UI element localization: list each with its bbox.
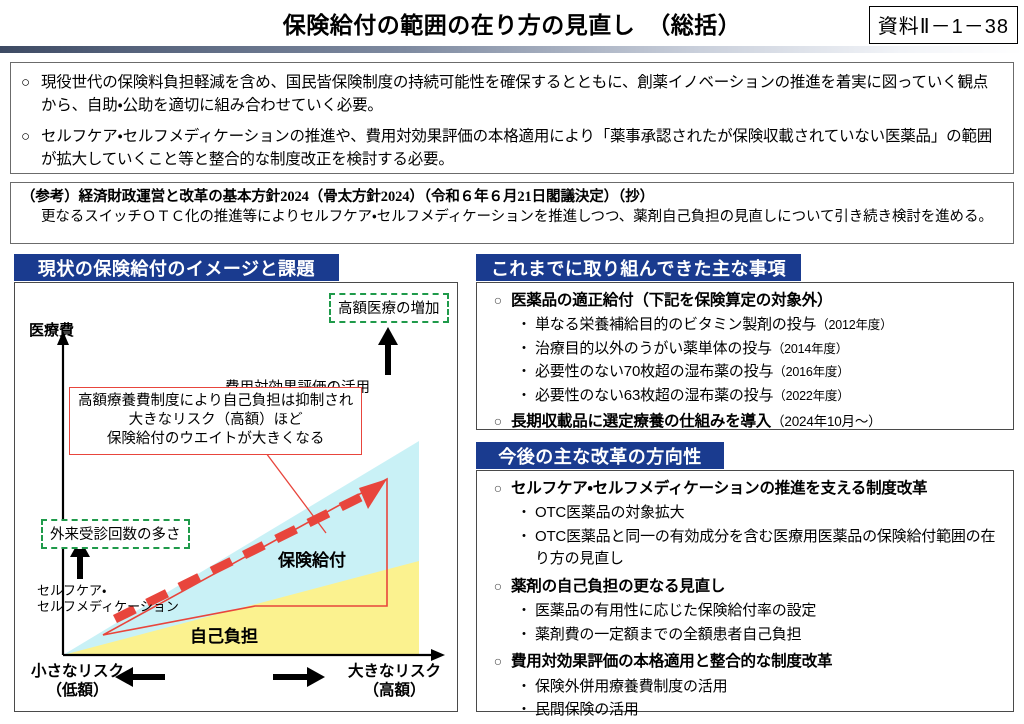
list-sub-item: ・ 治療目的以外のうがい薬単体の投与（2014年度） [485,338,1005,361]
list-item-head: ○ 長期収載品に選定療養の仕組みを導入（2024年10月～） [485,411,1005,433]
list-sub-item-text: 必要性のない70枚超の湿布薬の投与（2016年度） [535,361,1005,384]
summary-item-text: 現役世代の保険料負担軽減を含め、国民皆保険制度の持続可能性を確保するとともに、創… [41,72,1003,118]
list-sub-item: ・ 薬剤費の一定額までの全額患者自己負担 [485,624,1005,647]
dot-bullet-icon: ・ [517,502,535,524]
history-panel: ○ 医薬品の適正給付（下記を保険算定の対象外） ・ 単なる栄養補給目的のビタミン… [476,282,1014,430]
list-item-head: ○ セルフケア・セルフメディケーションの推進を支える制度改革 [485,478,1005,500]
x-axis-label-small-risk: 小さなリスク （低額） [31,663,124,700]
list-sub-item: ・ 保険外併用療養費制度の活用 [485,676,1005,699]
list-sub-item-text: 民間保険の活用 [535,699,1005,722]
big-risk-arrow-icon [273,667,325,687]
chart-panel: 医療費 保険給付 自己負担 費用対効果評価の活用 セルフケア・ セルフメディケー… [14,282,458,712]
self-pay-label: 自己負担 [190,622,258,647]
slide-page: 保険給付の範囲の在り方の見直し （総括） 資料Ⅱ－1－38 ○ 現役世代の保険料… [0,0,1024,724]
list-sub-item: ・ OTC医薬品と同一の有効成分を含む医療用医薬品の保険給付範囲の在り方の見直し [485,526,1005,571]
list-sub-item-text: 薬剤費の一定額までの全額患者自己負担 [535,624,1005,647]
list-item-head-text: 薬剤の自己負担の更なる見直し [511,576,1005,598]
future-list: ○ セルフケア・セルフメディケーションの推進を支える制度改革 ・ OTC医薬品の… [477,471,1013,722]
dot-bullet-icon: ・ [517,526,535,548]
dot-bullet-icon: ・ [517,385,535,407]
list-item-head-text: 費用対効果評価の本格適用と整合的な制度改革 [511,651,1005,673]
list-item-head-text: 医薬品の適正給付（下記を保険算定の対象外） [511,290,1005,312]
outpatient-visits-callout: 外来受診回数の多さ [41,519,190,549]
insurance-benefit-label: 保険給付 [278,546,346,571]
list-sub-item-text: 治療目的以外のうがい薬単体の投与（2014年度） [535,338,1005,361]
dot-bullet-icon: ・ [517,699,535,721]
dot-bullet-icon: ・ [517,361,535,383]
summary-item-text: セルフケア・セルフメディケーションの推進や、費用対効果評価の本格適用により「薬事… [41,126,1003,172]
dot-bullet-icon: ・ [517,600,535,622]
list-sub-item: ・ OTC医薬品の対象拡大 [485,502,1005,525]
list-sub-item-text: OTC医薬品と同一の有効成分を含む医療用医薬品の保険給付範囲の在り方の見直し [535,526,1005,571]
circle-bullet-icon: ○ [485,411,511,432]
list-sub-item: ・ 必要性のない63枚超の湿布薬の投与（2022年度） [485,385,1005,408]
circle-bullet-icon: ○ [485,651,511,672]
reference-box: （参考）経済財政運営と改革の基本方針2024（骨太方針2024）（令和６年６月2… [10,182,1014,244]
circle-bullet-icon: ○ [21,126,41,149]
insurance-coverage-diagram [15,283,459,713]
dot-bullet-icon: ・ [517,338,535,360]
list-sub-item: ・ 単なる栄養補給目的のビタミン製剤の投与（2012年度） [485,314,1005,337]
list-sub-item-text: 単なる栄養補給目的のビタミン製剤の投与（2012年度） [535,314,1005,337]
reference-title: （参考）経済財政運営と改革の基本方針2024（骨太方針2024）（令和６年６月2… [21,188,1003,208]
future-panel: ○ セルフケア・セルフメディケーションの推進を支える制度改革 ・ OTC医薬品の… [476,470,1014,712]
list-sub-item-text: OTC医薬品の対象拡大 [535,502,1005,525]
section-header-future: 今後の主な改革の方向性 [476,442,724,469]
header-divider [0,46,1024,53]
list-sub-item-text: 必要性のない63枚超の湿布薬の投与（2022年度） [535,385,1005,408]
list-item-head-text: 長期収載品に選定療養の仕組みを導入（2024年10月～） [511,411,1005,433]
selfcare-annotation: セルフケア・ セルフメディケーション [37,583,179,616]
summary-box: ○ 現役世代の保険料負担軽減を含め、国民皆保険制度の持続可能性を確保するとともに… [10,62,1014,174]
section-header-chart: 現状の保険給付のイメージと課題 [14,254,339,281]
list-item-head-text: セルフケア・セルフメディケーションの推進を支える制度改革 [511,478,1005,500]
circle-bullet-icon: ○ [21,72,41,95]
list-sub-item-text: 医薬品の有用性に応じた保険給付率の設定 [535,600,1005,623]
reference-body: 更なるスイッチＯＴＣ化の推進等によりセルフケア・セルフメディケーションを推進しつ… [21,208,1003,228]
list-item-head: ○ 薬剤の自己負担の更なる見直し [485,576,1005,598]
dot-bullet-icon: ・ [517,314,535,336]
list-sub-item: ・ 民間保険の活用 [485,699,1005,722]
list-sub-item: ・ 必要性のない70枚超の湿布薬の投与（2016年度） [485,361,1005,384]
dot-bullet-icon: ・ [517,676,535,698]
circle-bullet-icon: ○ [485,290,511,311]
circle-bullet-icon: ○ [485,478,511,499]
list-sub-item-text: 保険外併用療養費制度の活用 [535,676,1005,699]
history-list: ○ 医薬品の適正給付（下記を保険算定の対象外） ・ 単なる栄養補給目的のビタミン… [477,283,1013,434]
high-cost-medical-expense-callout: 高額療養費制度により自己負担は抑制され 大きなリスク（高額）ほど 保険給付のウエ… [69,387,362,455]
document-id-badge: 資料Ⅱ－1－38 [869,6,1018,44]
list-item-head: ○ 医薬品の適正給付（下記を保険算定の対象外） [485,290,1005,312]
circle-bullet-icon: ○ [485,576,511,597]
high-cost-care-callout: 高額医療の増加 [329,293,449,323]
x-axis-label-big-risk: 大きなリスク （高額） [348,663,441,700]
y-axis-label: 医療費 [29,319,74,340]
dot-bullet-icon: ・ [517,624,535,646]
increase-arrow-up-icon [378,327,398,375]
list-sub-item: ・ 医薬品の有用性に応じた保険給付率の設定 [485,600,1005,623]
list-item-head: ○ 費用対効果評価の本格適用と整合的な制度改革 [485,651,1005,673]
summary-item: ○ セルフケア・セルフメディケーションの推進や、費用対効果評価の本格適用により「… [21,126,1003,172]
section-header-history: これまでに取り組んできた主な事項 [476,254,801,281]
summary-item: ○ 現役世代の保険料負担軽減を含め、国民皆保険制度の持続可能性を確保するとともに… [21,72,1003,118]
